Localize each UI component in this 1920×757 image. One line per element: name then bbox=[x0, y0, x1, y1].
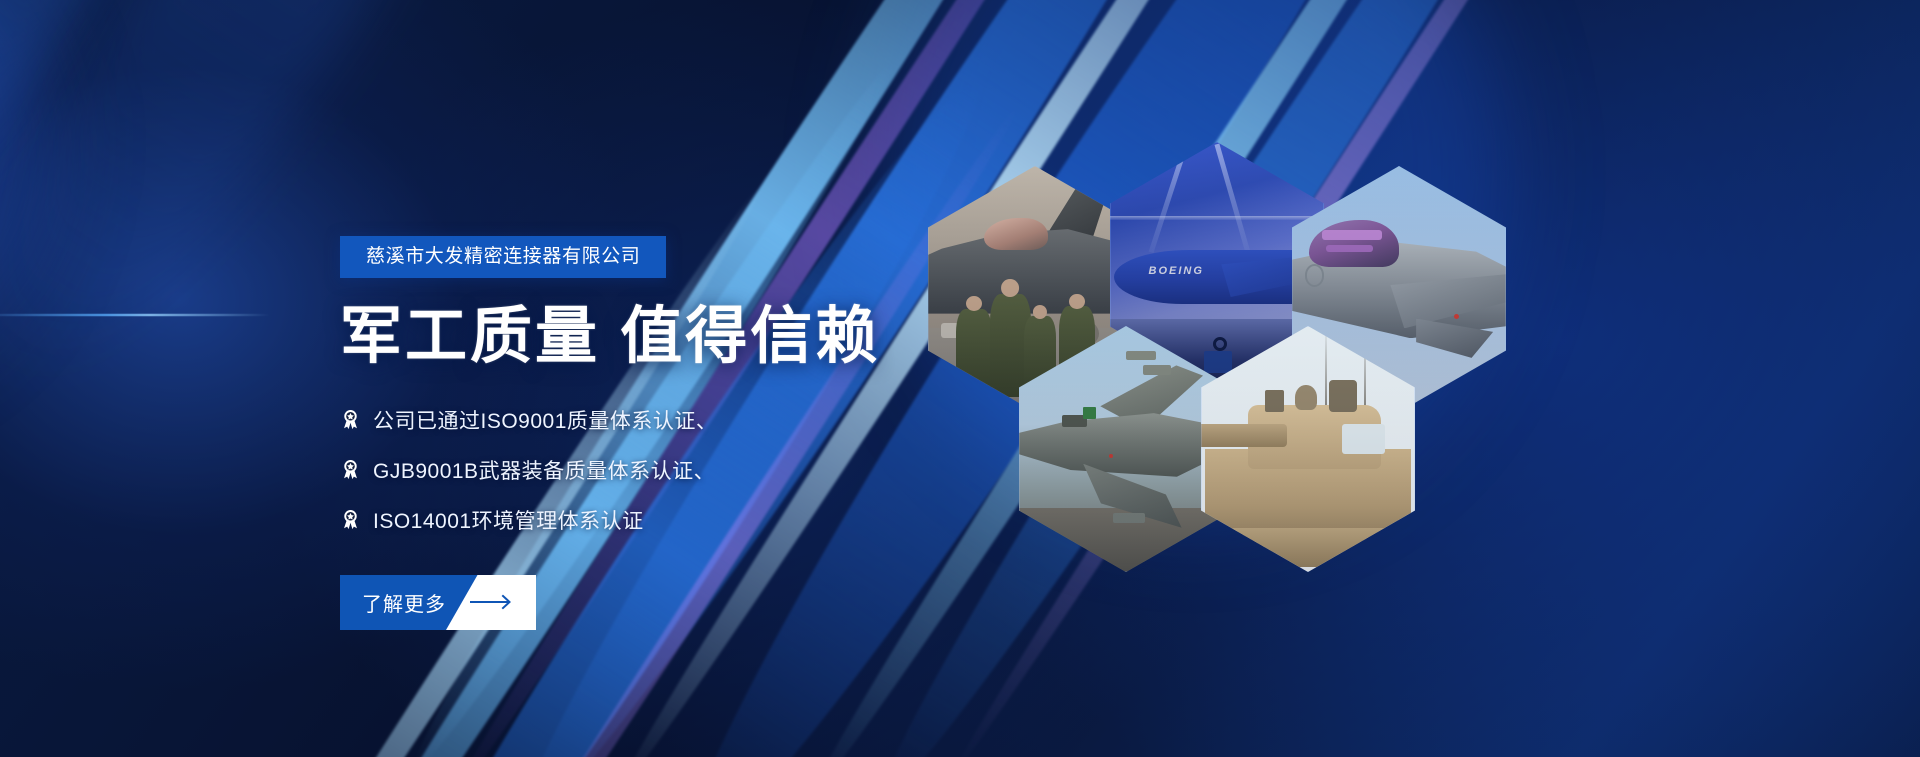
learn-more-button[interactable]: 了解更多 bbox=[340, 575, 536, 630]
certification-list: 公司已通过ISO9001质量体系认证、 GJB9001B武器装备质量体系认证、 bbox=[340, 405, 960, 535]
list-item-label: ISO14001环境管理体系认证 bbox=[373, 505, 644, 535]
list-item-label: 公司已通过ISO9001质量体系认证、 bbox=[373, 405, 717, 435]
hero-copy: 慈溪市大发精密连接器有限公司 军工质量 值得信赖 公司已通过ISO9001质量体… bbox=[340, 236, 960, 630]
glow-left bbox=[0, 0, 44, 393]
horizontal-light-bar bbox=[0, 314, 270, 316]
hexagon-photo-gallery: BOEING bbox=[900, 140, 1400, 610]
hero-banner: 慈溪市大发精密连接器有限公司 军工质量 值得信赖 公司已通过ISO9001质量体… bbox=[0, 0, 1920, 757]
medal-icon bbox=[340, 509, 361, 530]
page-title: 军工质量 值得信赖 bbox=[340, 304, 960, 371]
medal-icon bbox=[340, 459, 361, 480]
streak-13 bbox=[0, 0, 327, 381]
learn-more-label: 了解更多 bbox=[362, 575, 446, 630]
list-item-label: GJB9001B武器装备质量体系认证、 bbox=[373, 455, 715, 485]
list-item: ISO14001环境管理体系认证 bbox=[340, 505, 960, 535]
list-item: GJB9001B武器装备质量体系认证、 bbox=[340, 455, 960, 485]
arrow-right-icon bbox=[470, 575, 516, 630]
company-name-badge: 慈溪市大发精密连接器有限公司 bbox=[340, 236, 666, 278]
streak-15 bbox=[0, 0, 48, 337]
list-item: 公司已通过ISO9001质量体系认证、 bbox=[340, 405, 960, 435]
medal-icon bbox=[340, 409, 361, 430]
